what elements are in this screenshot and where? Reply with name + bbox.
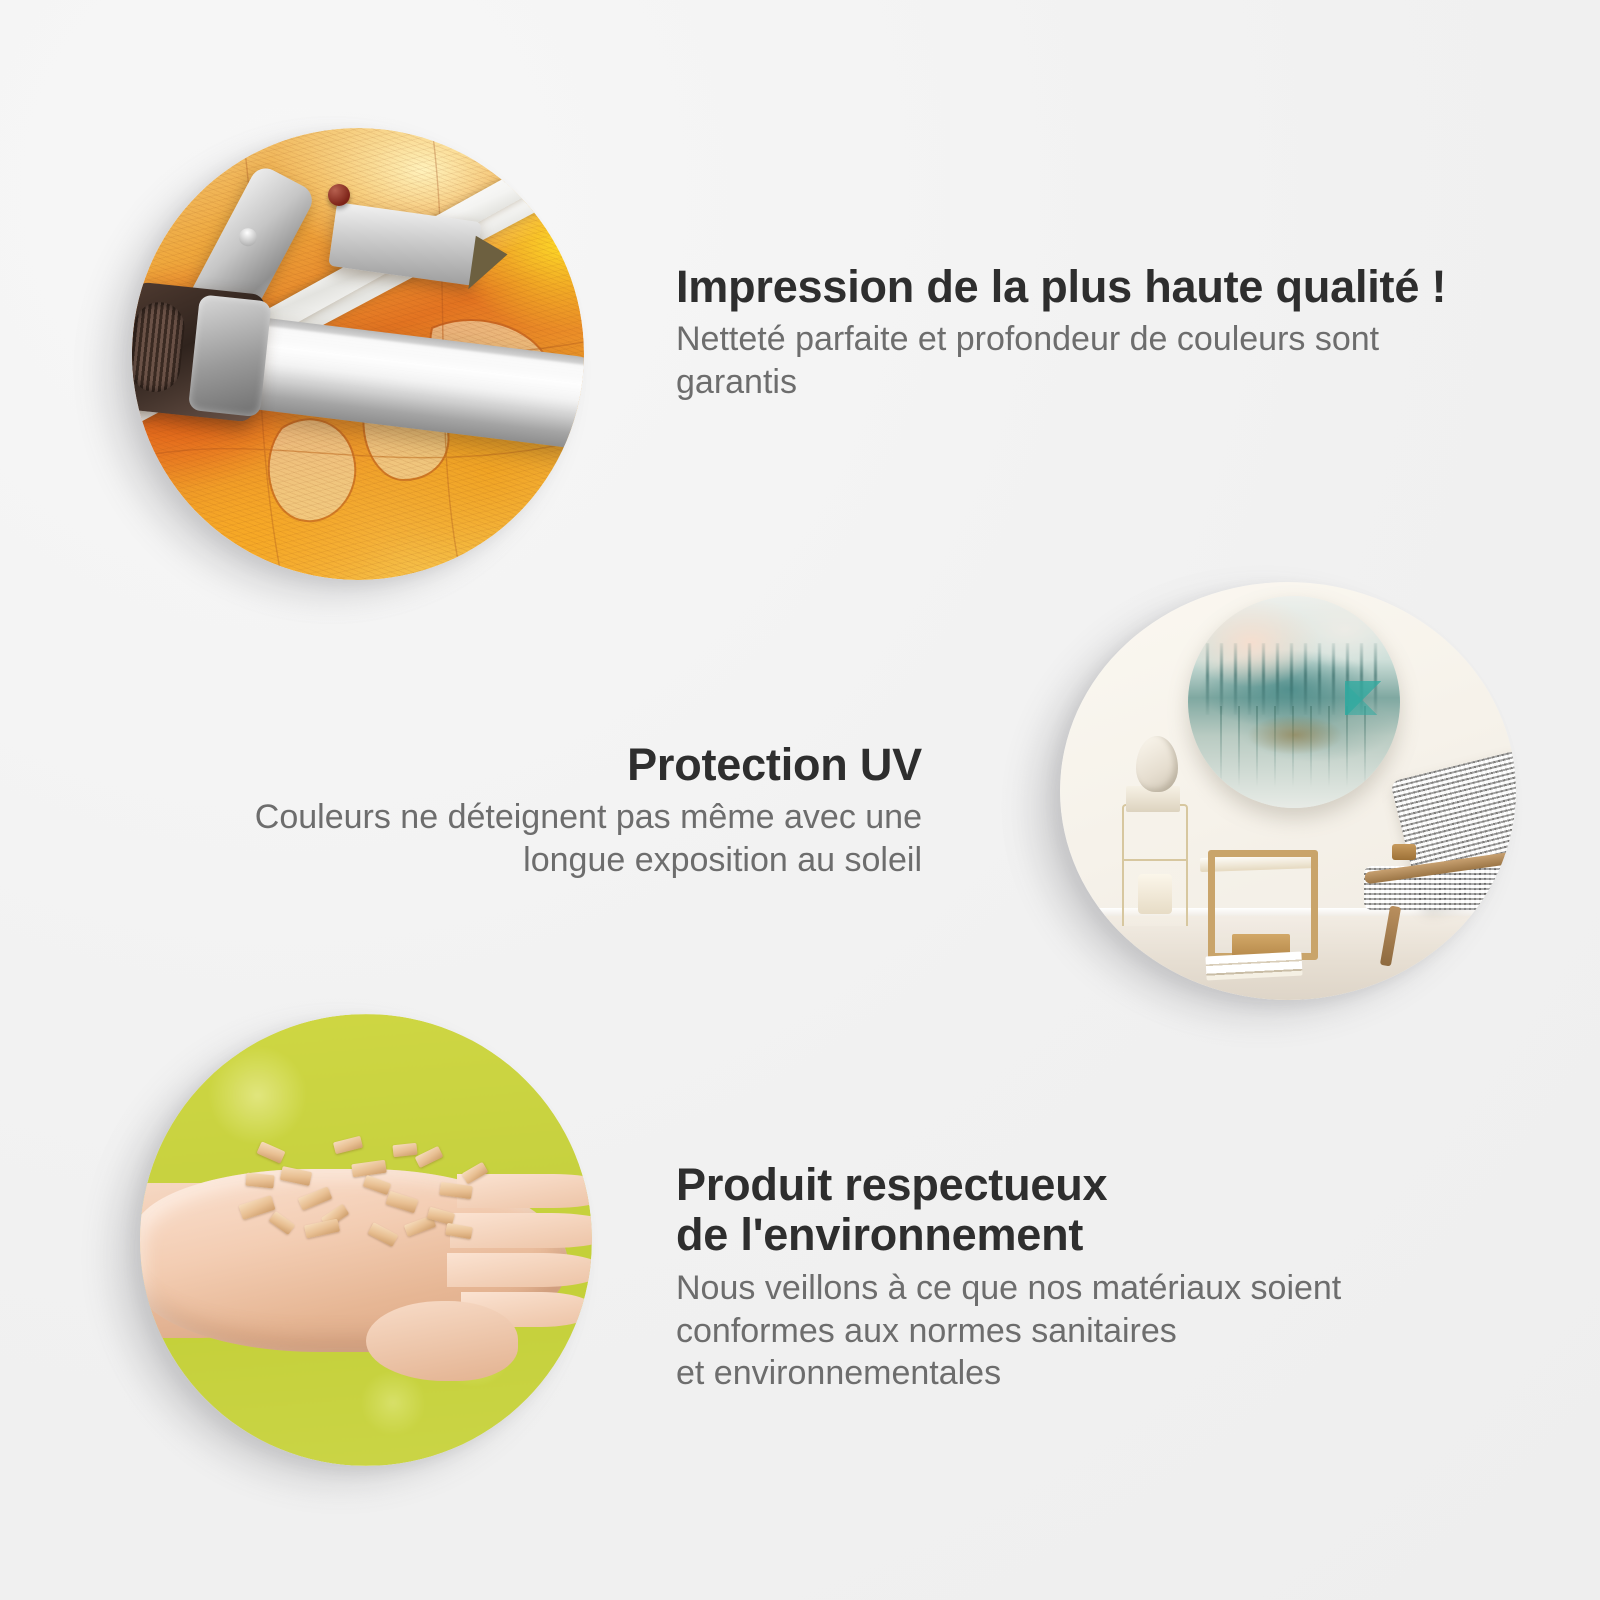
wood-chip [368,1222,399,1247]
wood-chip [362,1175,391,1195]
wood-chip [268,1212,294,1236]
armchair-leg [1380,906,1401,967]
hands-wood-chips-photo-inner [140,1014,592,1466]
feature-eco-text: Produit respectueux de l'environnement N… [676,1160,1436,1395]
artwork-gold-accent [1247,715,1343,755]
wood-chip [239,1195,276,1220]
wood-chip [280,1166,312,1186]
armrest-cup [1392,844,1416,860]
printing-roller-map-photo [132,128,584,580]
book-stack [1205,952,1302,981]
wire-plant-stand [1122,804,1188,926]
feature-uv-text: Protection UV Couleurs ne déteignent pas… [176,740,922,882]
pillar-candle [1138,874,1172,914]
roller-bolt [236,225,260,249]
infographic-canvas: Impression de la plus haute qualité ! Ne… [0,0,1600,1600]
wood-chip [351,1159,386,1177]
printing-roller-map-photo-inner [132,128,584,580]
wood-chip [439,1182,472,1199]
wood-chip [386,1190,419,1213]
wood-chip [298,1187,333,1211]
wood-chip-pile [234,1136,528,1263]
feature-uv-body: Couleurs ne déteignent pas même avec une… [176,796,922,882]
roller-mount-plate [188,294,272,417]
artwork-teal-triangles [1345,681,1383,715]
feature-eco-heading: Produit respectueux de l'environnement [676,1160,1436,1261]
feature-quality-body: Netteté parfaite et profondeur de couleu… [676,318,1486,404]
interior-photo-inner [1060,582,1516,1000]
feature-eco-body: Nous veillons à ce que nos matériaux soi… [676,1267,1436,1395]
hands-wood-chips-photo [140,1014,592,1466]
wood-chip [256,1142,285,1164]
armchair-leg [1505,906,1516,967]
roller-knurled-grip [132,300,187,395]
round-wall-artwork [1188,596,1400,808]
wood-chip [304,1219,340,1239]
wood-chip [246,1173,275,1189]
roller-head-assembly [132,281,266,422]
plaster-bust-sculpture [1136,736,1178,792]
wood-chip [462,1161,489,1183]
wood-chip [445,1223,473,1239]
cupped-hands [140,1132,592,1367]
armchair [1332,806,1516,966]
feature-uv-heading: Protection UV [176,740,922,790]
thumb [366,1301,518,1381]
red-knob [328,184,350,206]
wood-chip [392,1143,417,1157]
interior-round-artwork-photo [1060,582,1516,1000]
feature-quality-text: Impression de la plus haute qualité ! Ne… [676,262,1486,404]
wood-chip [415,1146,444,1168]
wood-chip [333,1136,363,1154]
feature-quality-heading: Impression de la plus haute qualité ! [676,262,1486,312]
